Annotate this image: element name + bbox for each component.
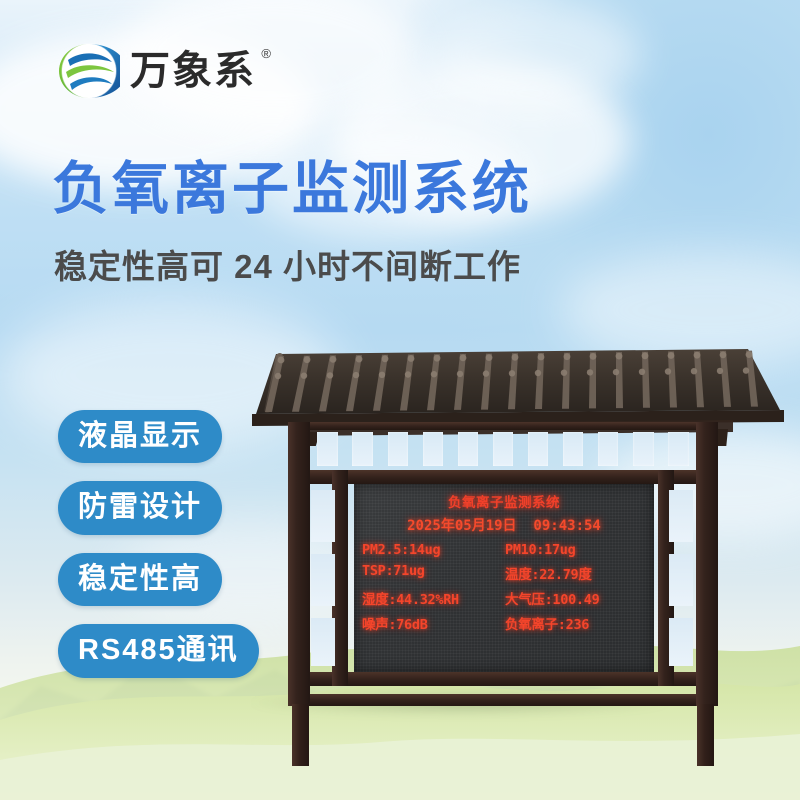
slat-gap [485,428,520,470]
brand-name: 万象系 ® [130,51,256,91]
slat-gap [626,428,661,470]
right-lattice-panel [660,484,704,672]
brand-logo: 万象系 ® [58,40,256,102]
led-reading-humidity: 湿度:44.32%RH [362,588,503,608]
led-datetime: 2025年05月19日 09:43:54 [354,515,654,535]
led-time: 09:43:54 [533,518,600,534]
lattice-opening [311,618,335,666]
top-slat-row [310,428,696,470]
slat-gap [521,428,556,470]
slat-gap [591,428,626,470]
brand-name-text: 万象系 [130,49,256,93]
cloud-icon [420,0,640,110]
right-leg [697,704,714,766]
led-reading-temperature: 温度:22.79度 [505,563,646,583]
lattice-opening [669,554,693,606]
led-reading-tsp: TSP:71ug [362,563,503,583]
lattice-opening [311,554,335,606]
led-display-panel: 负氧离子监测系统 2025年05月19日 09:43:54 PM2.5:14ug… [354,484,654,672]
page-title: 负氧离子监测系统 [52,160,692,220]
left-leg [292,704,309,766]
monitoring-station-kiosk: 负氧离子监测系统 2025年05月19日 09:43:54 PM2.5:14ug… [228,336,793,711]
led-date: 2025年05月19日 [407,518,516,534]
page-subtitle: 稳定性高可 24 小时不间断工作 [54,240,694,288]
led-reading-noise: 噪声:76dB [362,613,503,633]
slat-gap [415,428,450,470]
slat-gap [450,428,485,470]
registered-trademark-icon: ® [261,47,273,60]
bottom-rail [288,694,718,706]
led-reading-pm10: PM10:17ug [505,542,646,558]
slat-gap [556,428,591,470]
product-poster: 万象系 ® 负氧离子监测系统 稳定性高可 24 小时不间断工作 液晶显示 防雷设… [0,0,800,800]
led-reading-negative-ion: 负氧离子:236 [505,613,646,633]
kiosk-frame: 负氧离子监测系统 2025年05月19日 09:43:54 PM2.5:14ug… [288,422,718,712]
slat-gap [345,428,380,470]
lower-rail [288,672,718,686]
lattice-opening [669,618,693,666]
top-rail [288,422,718,430]
slat-gap [310,428,345,470]
globe-swirl-logo-icon [58,40,120,102]
led-readings-grid: PM2.5:14ug PM10:17ug TSP:71ug 温度:22.79度 … [354,542,654,633]
slat-gap [380,428,415,470]
mid-rail [288,470,718,484]
led-header-text: 负氧离子监测系统 [354,491,654,511]
slat-gap [661,428,696,470]
led-reading-pm25: PM2.5:14ug [362,542,503,558]
lattice-opening [311,490,335,542]
feature-badge: 液晶显示 [58,410,222,463]
left-lattice-panel [302,484,346,672]
feature-badge: 稳定性高 [58,553,222,606]
lattice-opening [669,490,693,542]
feature-badge: 防雷设计 [58,481,222,534]
led-reading-pressure: 大气压:100.49 [505,588,646,608]
